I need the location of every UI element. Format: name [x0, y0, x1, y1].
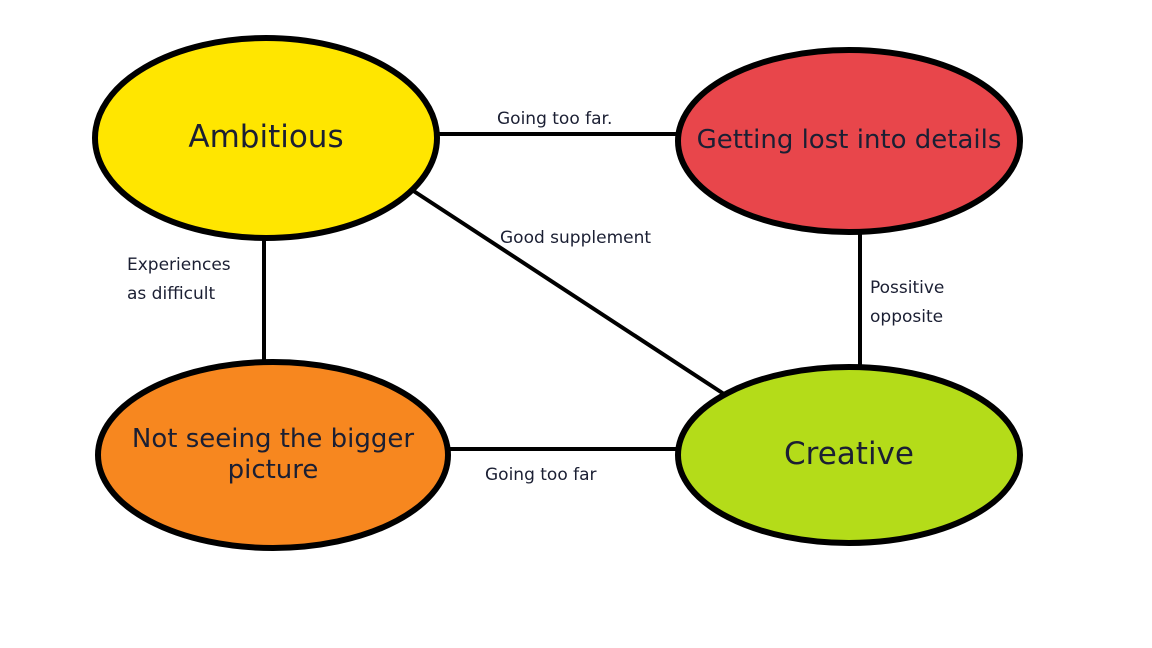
- node-ellipse-not-seeing-the-bigger-picture[interactable]: [98, 362, 448, 548]
- node-ellipse-getting-lost-into-details[interactable]: [678, 50, 1020, 232]
- diagram-svg: [0, 0, 1152, 648]
- node-shape-group: [95, 38, 1020, 548]
- node-ellipse-creative[interactable]: [678, 367, 1020, 543]
- edge-line-ambitious-to-creative: [409, 188, 727, 396]
- node-ellipse-ambitious[interactable]: [95, 38, 437, 238]
- diagram-canvas: AmbitiousGetting lost into detailsNot se…: [0, 0, 1152, 648]
